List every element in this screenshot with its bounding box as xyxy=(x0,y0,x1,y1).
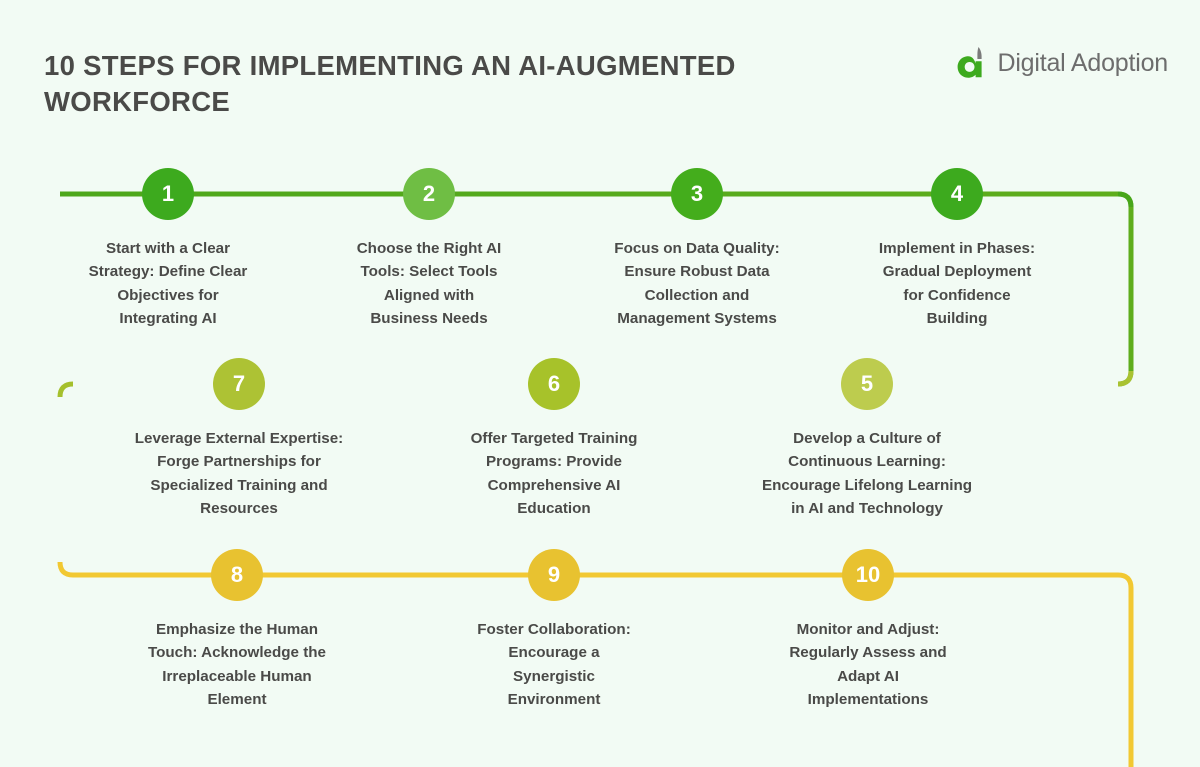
step-description-1: Start with a Clear Strategy: Define Clea… xyxy=(58,237,278,330)
step-description-4: Implement in Phases: Gradual Deployment … xyxy=(822,237,1092,330)
step-number-2: 2 xyxy=(423,183,435,205)
step-number-badge-6: 6 xyxy=(528,358,580,410)
step-item-3[interactable]: 3 Focus on Data Quality: Ensure Robust D… xyxy=(562,168,832,330)
step-description-9: Foster Collaboration: Encourage a Synerg… xyxy=(419,618,689,711)
digital-adoption-logo-icon xyxy=(956,45,990,81)
step-description-10: Monitor and Adjust: Regularly Assess and… xyxy=(733,618,1003,711)
step-number-badge-7: 7 xyxy=(213,358,265,410)
step-number-badge-3: 3 xyxy=(671,168,723,220)
step-number-badge-1: 1 xyxy=(142,168,194,220)
step-number-9: 9 xyxy=(548,564,560,586)
step-number-10: 10 xyxy=(856,564,880,586)
step-number-badge-8: 8 xyxy=(211,549,263,601)
brand-name: Digital Adoption xyxy=(997,49,1168,78)
step-item-4[interactable]: 4 Implement in Phases: Gradual Deploymen… xyxy=(822,168,1092,330)
step-item-5[interactable]: 5 Develop a Culture of Continuous Learni… xyxy=(737,358,997,520)
step-number-badge-2: 2 xyxy=(403,168,455,220)
step-description-6: Offer Targeted Training Programs: Provid… xyxy=(419,427,689,520)
step-number-1: 1 xyxy=(162,183,174,205)
step-number-3: 3 xyxy=(691,183,703,205)
step-number-badge-10: 10 xyxy=(842,549,894,601)
step-description-8: Emphasize the Human Touch: Acknowledge t… xyxy=(102,618,372,711)
step-description-2: Choose the Right AI Tools: Select Tools … xyxy=(319,237,539,330)
step-item-9[interactable]: 9 Foster Collaboration: Encourage a Syne… xyxy=(419,549,689,711)
step-number-7: 7 xyxy=(233,373,245,395)
step-description-5: Develop a Culture of Continuous Learning… xyxy=(737,427,997,520)
step-item-6[interactable]: 6 Offer Targeted Training Programs: Prov… xyxy=(419,358,689,520)
step-description-7: Leverage External Expertise: Forge Partn… xyxy=(96,427,382,520)
step-number-8: 8 xyxy=(231,564,243,586)
brand-logo-group: Digital Adoption xyxy=(956,45,1168,81)
step-item-1[interactable]: 1 Start with a Clear Strategy: Define Cl… xyxy=(58,168,278,330)
step-number-4: 4 xyxy=(951,183,963,205)
step-number-5: 5 xyxy=(861,373,873,395)
infographic-canvas: 10 Steps for Implementing an AI-Augmente… xyxy=(0,0,1200,767)
step-item-8[interactable]: 8 Emphasize the Human Touch: Acknowledge… xyxy=(102,549,372,711)
step-number-badge-5: 5 xyxy=(841,358,893,410)
step-item-10[interactable]: 10 Monitor and Adjust: Regularly Assess … xyxy=(733,549,1003,711)
header: 10 Steps for Implementing an AI-Augmente… xyxy=(0,0,1200,140)
page-title: 10 Steps for Implementing an AI-Augmente… xyxy=(44,48,804,121)
step-item-2[interactable]: 2 Choose the Right AI Tools: Select Tool… xyxy=(319,168,539,330)
step-description-3: Focus on Data Quality: Ensure Robust Dat… xyxy=(562,237,832,330)
step-number-badge-4: 4 xyxy=(931,168,983,220)
step-number-6: 6 xyxy=(548,373,560,395)
step-number-badge-9: 9 xyxy=(528,549,580,601)
step-item-7[interactable]: 7 Leverage External Expertise: Forge Par… xyxy=(96,358,382,520)
